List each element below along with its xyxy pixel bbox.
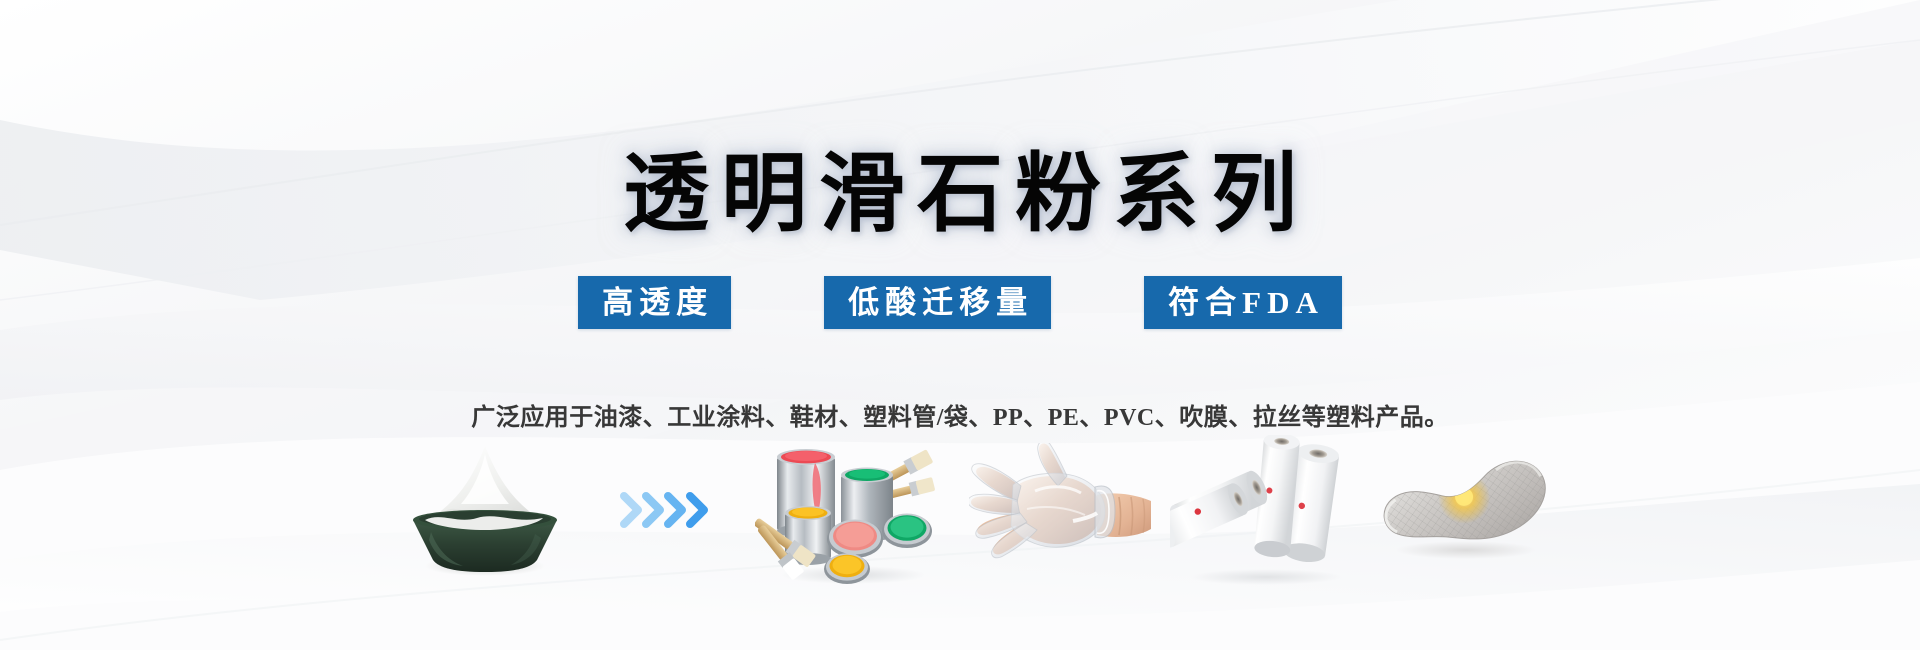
process-arrows-icon <box>613 480 733 540</box>
badge-fda-compliant[interactable]: 符合FDA <box>1144 276 1342 329</box>
plastic-glove-hand-image <box>969 443 1154 578</box>
badge-high-transparency[interactable]: 高透度 <box>578 276 731 329</box>
application-description: 广泛应用于油漆、工业涂料、鞋材、塑料管/袋、PP、PE、PVC、吹膜、拉丝等塑料… <box>471 397 1448 432</box>
application-figure-strip <box>0 430 1920 590</box>
page-title: 透明滑石粉系列 <box>611 144 1309 245</box>
plastic-film-rolls-image <box>1170 435 1360 585</box>
talc-powder-bowl-image <box>385 440 585 580</box>
shoe-sole-image <box>1374 450 1554 570</box>
feature-badge-group: 高透度 低酸迁移量 符合FDA <box>0 276 1920 329</box>
product-banner: 透明滑石粉系列 高透度 低酸迁移量 符合FDA 广泛应用于油漆、工业涂料、鞋材、… <box>0 0 1920 650</box>
badge-low-acid-migration[interactable]: 低酸迁移量 <box>824 276 1051 329</box>
paint-cans-image <box>755 435 955 585</box>
banner-title-container: 透明滑石粉系列 <box>0 86 1920 303</box>
